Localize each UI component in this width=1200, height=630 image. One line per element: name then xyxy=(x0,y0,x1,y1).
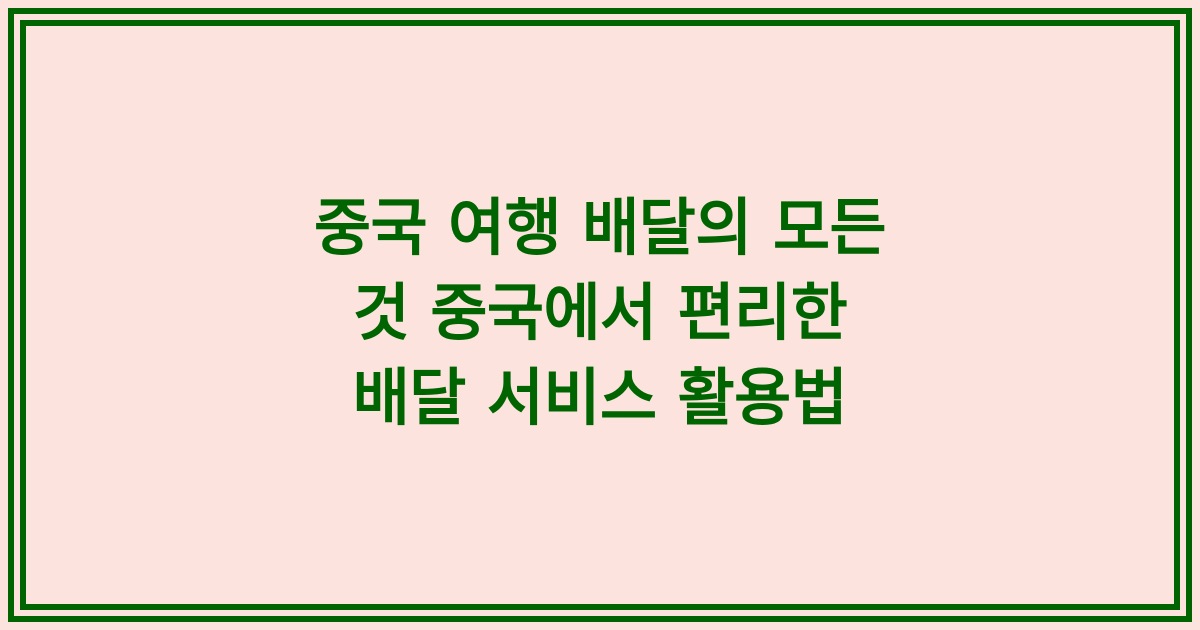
page-title-line-1: 중국 여행 배달의 모든 xyxy=(314,191,886,264)
headline-block: 중국 여행 배달의 모든 것 중국에서 편리한 배달 서비스 활용법 xyxy=(250,185,950,440)
outer-border-frame: 중국 여행 배달의 모든 것 중국에서 편리한 배달 서비스 활용법 xyxy=(8,8,1192,622)
article-cover-card: 중국 여행 배달의 모든 것 중국에서 편리한 배달 서비스 활용법 xyxy=(0,0,1200,630)
inner-border-frame: 중국 여행 배달의 모든 것 중국에서 편리한 배달 서비스 활용법 xyxy=(20,20,1180,610)
page-title-line-3: 배달 서비스 활용법 xyxy=(353,361,848,434)
page-title: 중국 여행 배달의 모든 것 중국에서 편리한 배달 서비스 활용법 xyxy=(250,185,950,440)
page-title-line-2: 것 중국에서 편리한 xyxy=(353,276,848,349)
